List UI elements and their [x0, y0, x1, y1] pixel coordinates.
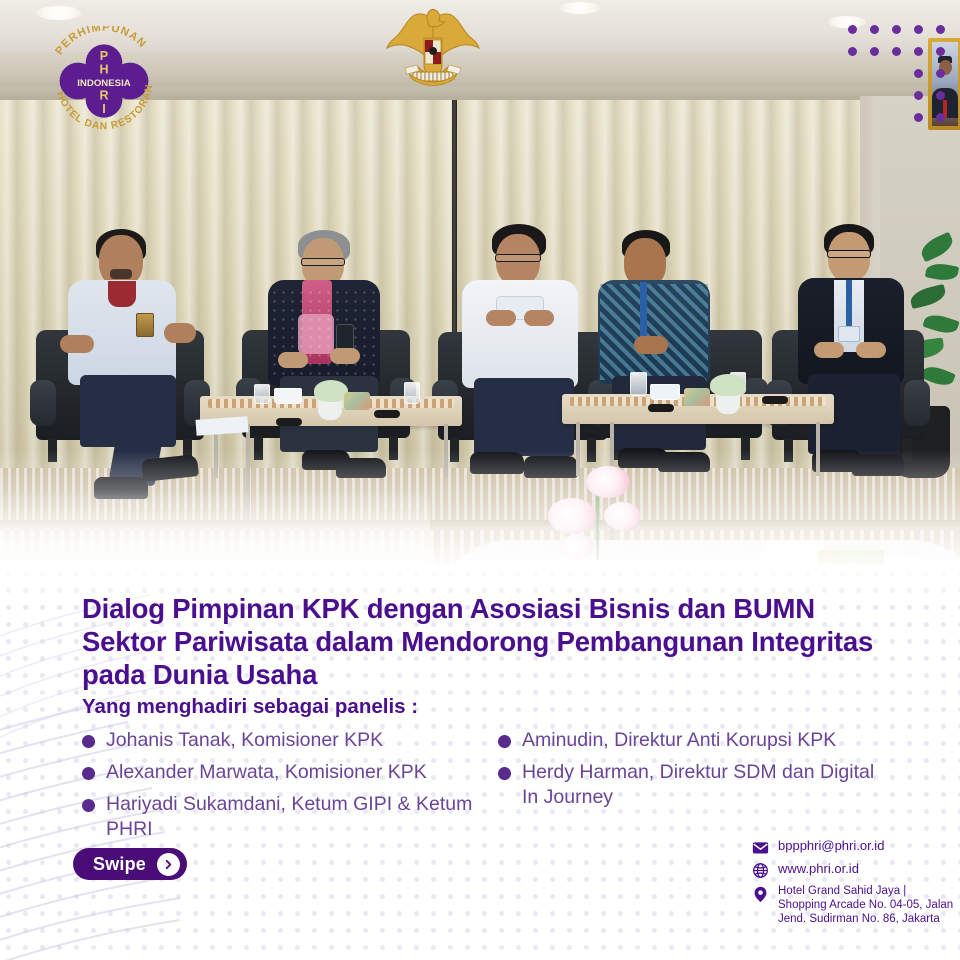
garuda-emblem	[383, 4, 483, 96]
tissue-box	[274, 388, 302, 404]
bullet-icon	[82, 799, 95, 812]
bullet-icon	[498, 767, 511, 780]
gift-box	[684, 388, 710, 406]
globe-icon	[752, 862, 769, 879]
bullet-icon	[498, 735, 511, 748]
water-glass	[254, 384, 270, 404]
address-text: Hotel Grand Sahid Jaya | Shopping Arcade…	[778, 884, 957, 926]
envelope-icon	[752, 839, 769, 856]
list-item: Hariyadi Sukamdani, Ketum GIPI & Ketum P…	[82, 792, 476, 842]
chevron-right-icon	[157, 853, 180, 876]
map-pin-icon	[752, 886, 769, 903]
microphone	[762, 396, 788, 404]
bullet-icon	[82, 767, 95, 780]
decorative-dot-grid	[840, 14, 960, 144]
swipe-button[interactable]: Swipe	[73, 848, 187, 880]
svg-text:I: I	[102, 102, 105, 116]
list-item: Johanis Tanak, Komisioner KPK	[82, 728, 476, 753]
list-item: Herdy Harman, Direktur SDM dan Digital I…	[498, 760, 892, 810]
table-plant-leaf	[710, 374, 746, 396]
microphone	[374, 410, 400, 418]
bullet-icon	[82, 735, 95, 748]
website-text: www.phri.or.id	[778, 861, 859, 877]
svg-text:P: P	[100, 49, 108, 63]
water-glass	[630, 372, 647, 396]
panelist-name: Herdy Harman, Direktur SDM dan Digital I…	[522, 760, 892, 810]
list-item: Alexander Marwata, Komisioner KPK	[82, 760, 476, 785]
list-item: Aminudin, Direktur Anti Korupsi KPK	[498, 728, 892, 753]
page-title: Dialog Pimpinan KPK dengan Asosiasi Bisn…	[82, 592, 892, 691]
microphone	[276, 418, 302, 426]
panelist-lists: Johanis Tanak, Komisioner KPK Alexander …	[82, 728, 892, 849]
social-media-post-card: P H INDONESIA R I PERHIMPUNAN HOTEL DAN …	[0, 0, 960, 960]
ceiling-light	[36, 6, 82, 20]
swipe-label: Swipe	[93, 854, 146, 875]
svg-text:INDONESIA: INDONESIA	[77, 78, 131, 89]
table-plant-leaf	[314, 380, 348, 402]
panelist-name: Hariyadi Sukamdani, Ketum GIPI & Ketum P…	[106, 792, 476, 842]
svg-text:H: H	[99, 62, 108, 76]
water-glass	[404, 382, 420, 404]
panelist-column-left: Johanis Tanak, Komisioner KPK Alexander …	[82, 728, 476, 849]
gift-box	[344, 392, 370, 410]
panelist-name: Johanis Tanak, Komisioner KPK	[106, 728, 383, 753]
panelist-section-heading: Yang menghadiri sebagai panelis :	[82, 695, 418, 719]
email-text: bppphri@phri.or.id	[778, 838, 884, 854]
panelist-name: Aminudin, Direktur Anti Korupsi KPK	[522, 728, 836, 753]
contact-block: bppphri@phri.or.id www.phri.or.id Hotel …	[752, 838, 957, 931]
phri-logo: P H INDONESIA R I PERHIMPUNAN HOTEL DAN …	[46, 26, 162, 136]
event-photo: P H INDONESIA R I PERHIMPUNAN HOTEL DAN …	[0, 0, 960, 600]
panelist-name: Alexander Marwata, Komisioner KPK	[106, 760, 427, 785]
ceiling-light	[560, 2, 600, 14]
contact-website-row[interactable]: www.phri.or.id	[752, 861, 957, 879]
contact-email-row[interactable]: bppphri@phri.or.id	[752, 838, 957, 856]
svg-text:R: R	[99, 88, 108, 102]
contact-address-row: Hotel Grand Sahid Jaya | Shopping Arcade…	[752, 884, 957, 926]
microphone	[648, 404, 674, 412]
tissue-box	[650, 384, 680, 400]
panelist-column-right: Aminudin, Direktur Anti Korupsi KPK Herd…	[498, 728, 892, 849]
